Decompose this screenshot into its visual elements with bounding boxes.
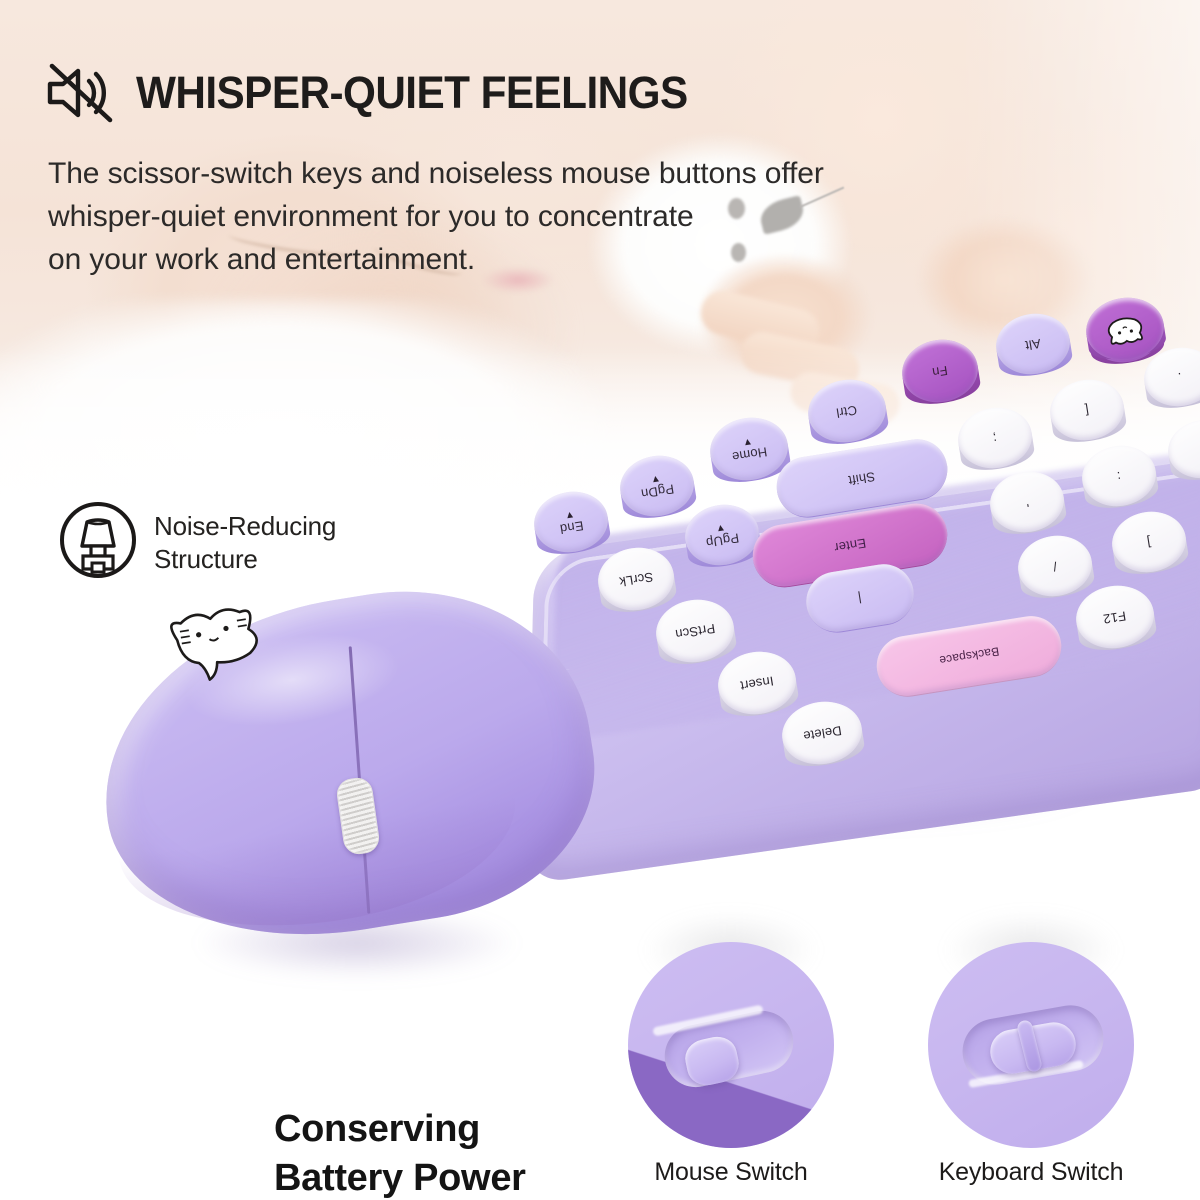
- keycap--[interactable]: :: [1078, 441, 1160, 512]
- mouse-switch-label: Mouse Switch: [628, 1158, 834, 1187]
- keycap-label: Shift: [847, 468, 876, 487]
- keycap--[interactable]: ;: [954, 403, 1036, 474]
- keycap-alt[interactable]: Alt: [992, 309, 1074, 380]
- keycap-label: End▼: [557, 508, 584, 536]
- keycap-label: [: [1084, 402, 1090, 417]
- keycap--[interactable]: ': [986, 467, 1068, 538]
- keycap-label: ScrLk: [618, 569, 654, 589]
- keycap-end[interactable]: End▼: [530, 487, 612, 558]
- headline-row: WHISPER-QUIET FEELINGS: [44, 62, 723, 124]
- keycap-label: Home▼: [730, 434, 769, 464]
- keycap-label: Backspace: [938, 644, 1000, 667]
- keyboard-switch-callout: Keyboard Switch: [928, 942, 1134, 1187]
- mute-speaker-icon: [44, 62, 118, 124]
- keycap--[interactable]: [: [1046, 375, 1128, 446]
- description-line-1: The scissor-switch keys and noiseless mo…: [48, 152, 948, 195]
- description-line-2: whisper-quiet environment for you to con…: [48, 195, 948, 238]
- keycap-arrow-glyph: ▼: [715, 522, 726, 531]
- keycap-arrow-glyph: ▼: [742, 436, 753, 445]
- keycap-label: ]: [1146, 534, 1152, 549]
- keycap-label: Alt: [1024, 335, 1042, 352]
- mouse-switch-callout: Mouse Switch: [628, 942, 834, 1187]
- feature-description: The scissor-switch keys and noiseless mo…: [48, 152, 948, 281]
- page-title: WHISPER-QUIET FEELINGS: [136, 67, 688, 119]
- keycap-f12[interactable]: F12: [1072, 580, 1159, 653]
- keycap-ctrl[interactable]: Ctrl: [804, 374, 891, 447]
- keycap-cat-face[interactable]: [1082, 292, 1169, 365]
- keycap-label: ': [1024, 494, 1029, 509]
- keycap--[interactable]: ]: [1108, 507, 1190, 578]
- noise-reducing-line-1: Noise-Reducing: [154, 510, 336, 543]
- keycap-arrow-glyph: ▼: [650, 473, 661, 482]
- keycap-label: Ctrl: [835, 402, 858, 420]
- keycap-label: Delete: [802, 723, 843, 744]
- keycap-label: PgUp▼: [704, 520, 741, 550]
- noise-reducing-label: Noise-Reducing Structure: [154, 510, 336, 576]
- keycap-structure-icon: [58, 500, 138, 585]
- keycap-pgup[interactable]: PgUp▼: [681, 500, 763, 571]
- battery-callout: Conserving Battery Power: [274, 1105, 526, 1200]
- keycap-label: PgDn▼: [639, 471, 676, 501]
- keycap-label: |: [857, 590, 863, 605]
- keycap-label: PrtScn: [674, 620, 716, 641]
- battery-line-1: Conserving: [274, 1105, 526, 1154]
- product-feature-slide: WHISPER-QUIET FEELINGS The scissor-switc…: [0, 0, 1200, 1200]
- keycap-label: :: [1116, 468, 1122, 483]
- keycap-label: ;: [992, 430, 998, 445]
- keycap-fn[interactable]: Fn: [898, 334, 983, 407]
- battery-line-2: Battery Power: [274, 1154, 526, 1200]
- keycap-label: Enter: [833, 535, 867, 555]
- description-line-3: on your work and entertainment.: [48, 238, 948, 281]
- keycap-label: Insert: [739, 673, 775, 693]
- keycap-delete[interactable]: Delete: [778, 696, 867, 770]
- keycap-label: .: [1177, 369, 1183, 384]
- mouse-switch-photo: [628, 942, 834, 1148]
- noise-reducing-line-2: Structure: [154, 543, 336, 576]
- keyboard-switch-label: Keyboard Switch: [928, 1158, 1134, 1187]
- keyboard-switch-photo: [928, 942, 1134, 1148]
- keycap-label: F12: [1102, 608, 1127, 626]
- keycap-label: Fn: [931, 362, 949, 379]
- keycap-arrow-glyph: ▼: [564, 509, 575, 518]
- noise-reducing-badge: Noise-Reducing Structure: [58, 500, 336, 585]
- mouse-product-photo: [72, 588, 632, 998]
- keycap-label: /: [1052, 558, 1058, 573]
